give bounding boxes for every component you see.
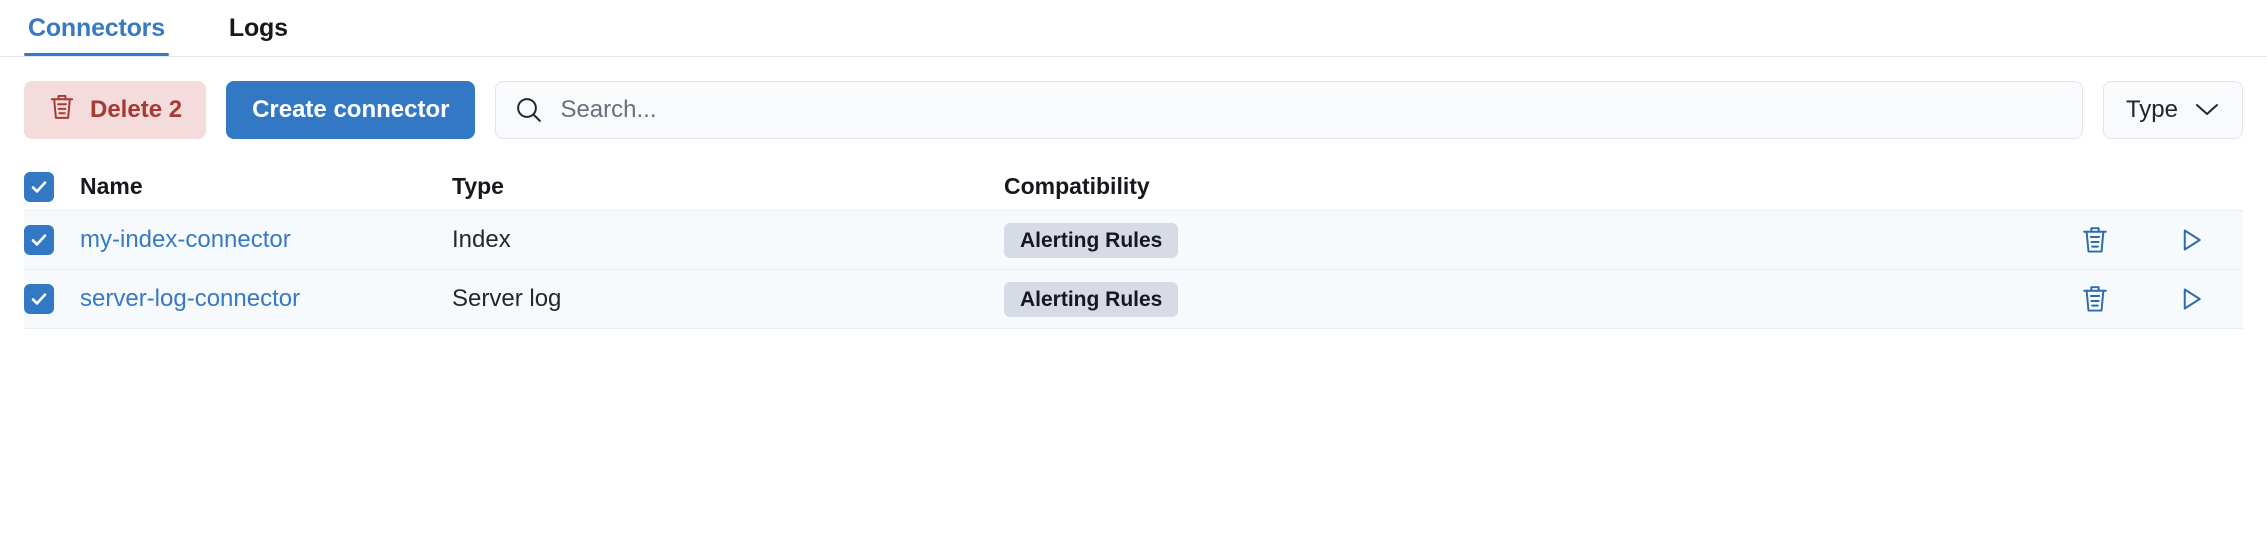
toolbar: Delete 2 Create connector Type	[0, 57, 2267, 139]
row-select-cell	[24, 284, 80, 314]
tab-connectors-label: Connectors	[28, 14, 165, 43]
search-field[interactable]	[495, 81, 2083, 139]
chevron-down-icon	[2194, 96, 2220, 124]
status-badge: Alerting Rules	[1004, 282, 1178, 317]
row-actions	[2063, 281, 2243, 317]
row-delete-button[interactable]	[2077, 281, 2113, 317]
connectors-page: Connectors Logs Delete 2 Create connecto…	[0, 0, 2267, 537]
run-icon	[2176, 225, 2206, 255]
column-header-type[interactable]: Type	[452, 173, 1004, 200]
connector-name-cell: my-index-connector	[80, 226, 452, 254]
connector-compatibility-cell: Alerting Rules	[1004, 223, 2063, 258]
connector-name-cell: server-log-connector	[80, 285, 452, 313]
row-delete-button[interactable]	[2077, 222, 2113, 258]
trash-icon	[48, 92, 76, 129]
connectors-table: Name Type Compatibility my-index-connect…	[0, 163, 2267, 329]
trash-icon	[2080, 224, 2110, 256]
column-header-name[interactable]: Name	[80, 173, 452, 200]
trash-icon	[2080, 283, 2110, 315]
tab-connectors[interactable]: Connectors	[24, 0, 169, 56]
connector-compatibility-cell: Alerting Rules	[1004, 282, 2063, 317]
table-header-row: Name Type Compatibility	[24, 163, 2243, 211]
table-row[interactable]: my-index-connector Index Alerting Rules	[24, 211, 2243, 270]
create-connector-button[interactable]: Create connector	[226, 81, 475, 139]
run-icon	[2176, 284, 2206, 314]
table-row[interactable]: server-log-connector Server log Alerting…	[24, 270, 2243, 329]
connector-name-link[interactable]: server-log-connector	[80, 285, 300, 312]
search-icon	[514, 95, 544, 125]
row-actions	[2063, 222, 2243, 258]
tab-logs-label: Logs	[229, 14, 288, 43]
delete-button-label: Delete 2	[90, 98, 182, 122]
column-header-compatibility[interactable]: Compatibility	[1004, 173, 2063, 200]
search-input[interactable]	[560, 96, 2064, 124]
tab-logs[interactable]: Logs	[225, 0, 292, 56]
row-run-button[interactable]	[2173, 281, 2209, 317]
connector-type-cell: Index	[452, 226, 1004, 254]
delete-button[interactable]: Delete 2	[24, 81, 206, 139]
row-checkbox[interactable]	[24, 284, 54, 314]
create-connector-label: Create connector	[252, 96, 449, 124]
row-run-button[interactable]	[2173, 222, 2209, 258]
status-badge: Alerting Rules	[1004, 223, 1178, 258]
type-filter-dropdown[interactable]: Type	[2103, 81, 2243, 139]
select-all-checkbox[interactable]	[24, 172, 54, 202]
select-all-cell	[24, 172, 80, 202]
row-checkbox[interactable]	[24, 225, 54, 255]
type-filter-label: Type	[2126, 96, 2178, 124]
row-select-cell	[24, 225, 80, 255]
connector-name-link[interactable]: my-index-connector	[80, 226, 291, 253]
connector-type-cell: Server log	[452, 285, 1004, 313]
tab-bar: Connectors Logs	[0, 0, 2267, 57]
